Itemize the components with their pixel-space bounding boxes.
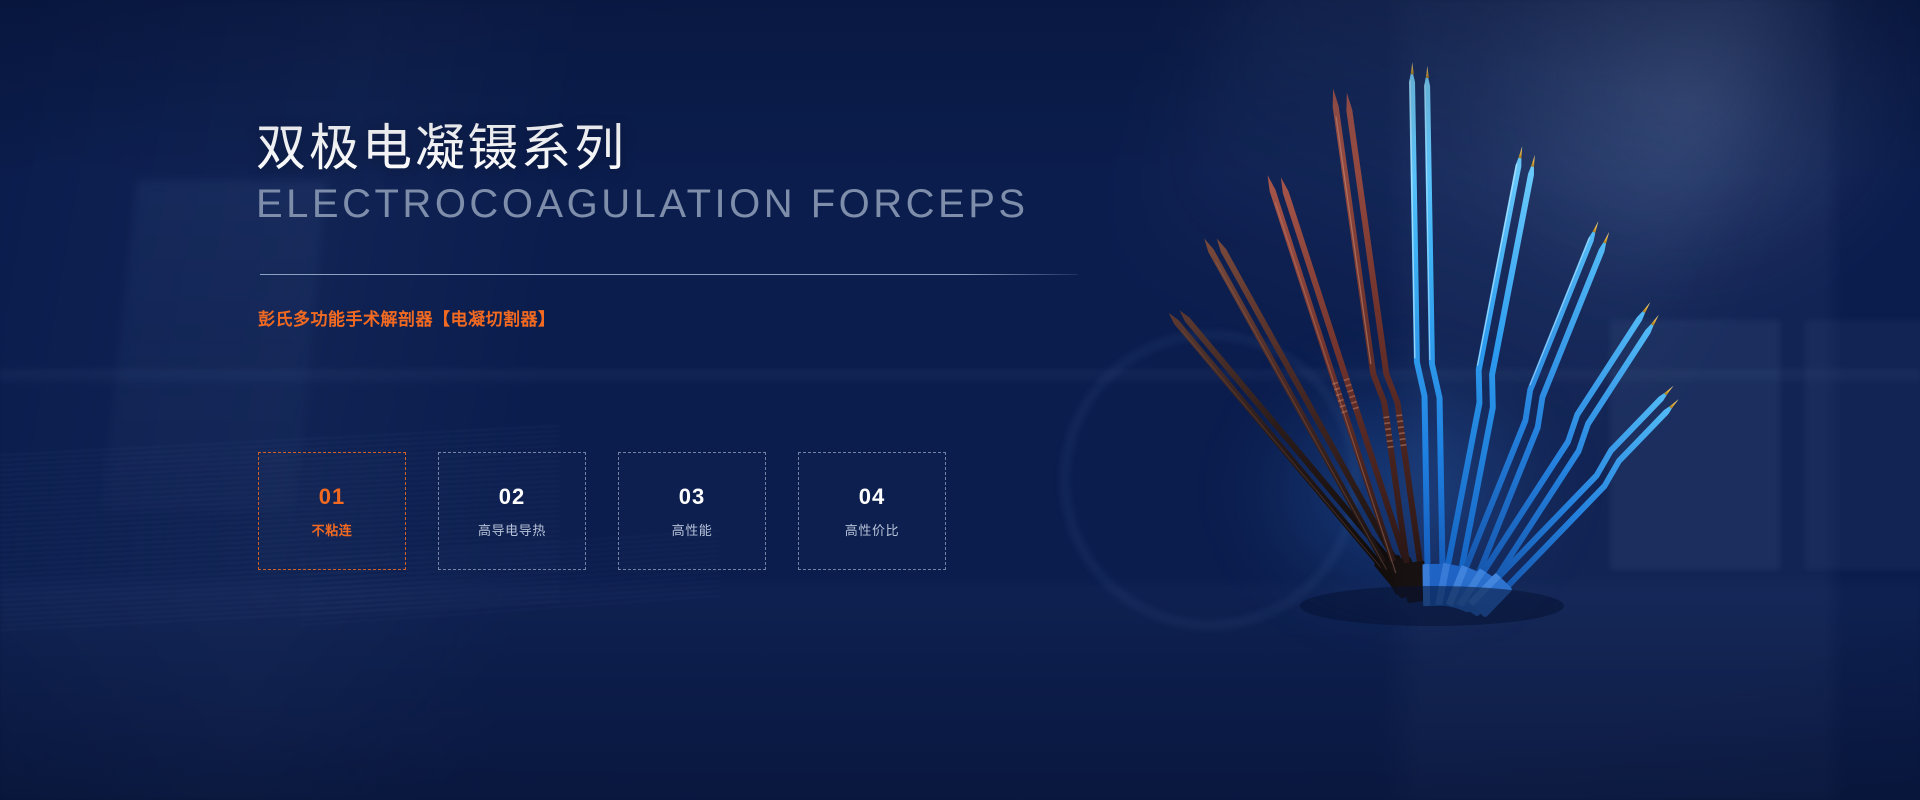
feature-label: 高性价比 <box>845 524 899 537</box>
page-subtitle-en: ELECTROCOAGULATION FORCEPS <box>256 182 1116 226</box>
page-title: 双极电凝镊系列 <box>256 120 1116 176</box>
banner-copy: 双极电凝镊系列 ELECTROCOAGULATION FORCEPS 彭氏多功能… <box>256 120 1116 330</box>
feature-label: 高导电导热 <box>478 524 546 537</box>
product-tagline: 彭氏多功能手术解剖器【电凝切割器】 <box>258 305 1116 330</box>
feature-number: 01 <box>319 486 345 508</box>
banner-root: 双极电凝镊系列 ELECTROCOAGULATION FORCEPS 彭氏多功能… <box>0 0 1920 800</box>
feature-label: 不粘连 <box>312 524 353 537</box>
feature-list: 01 不粘连 02 高导电导热 03 高性能 04 高性价比 <box>258 452 946 570</box>
feature-item-01[interactable]: 01 不粘连 <box>258 452 406 570</box>
feature-number: 04 <box>859 486 885 508</box>
divider <box>260 274 1078 275</box>
feature-number: 03 <box>679 486 705 508</box>
feature-item-02[interactable]: 02 高导电导热 <box>438 452 586 570</box>
feature-item-04[interactable]: 04 高性价比 <box>798 452 946 570</box>
product-image-forceps <box>1080 40 1700 640</box>
feature-number: 02 <box>499 486 525 508</box>
feature-item-03[interactable]: 03 高性能 <box>618 452 766 570</box>
feature-label: 高性能 <box>672 524 713 537</box>
